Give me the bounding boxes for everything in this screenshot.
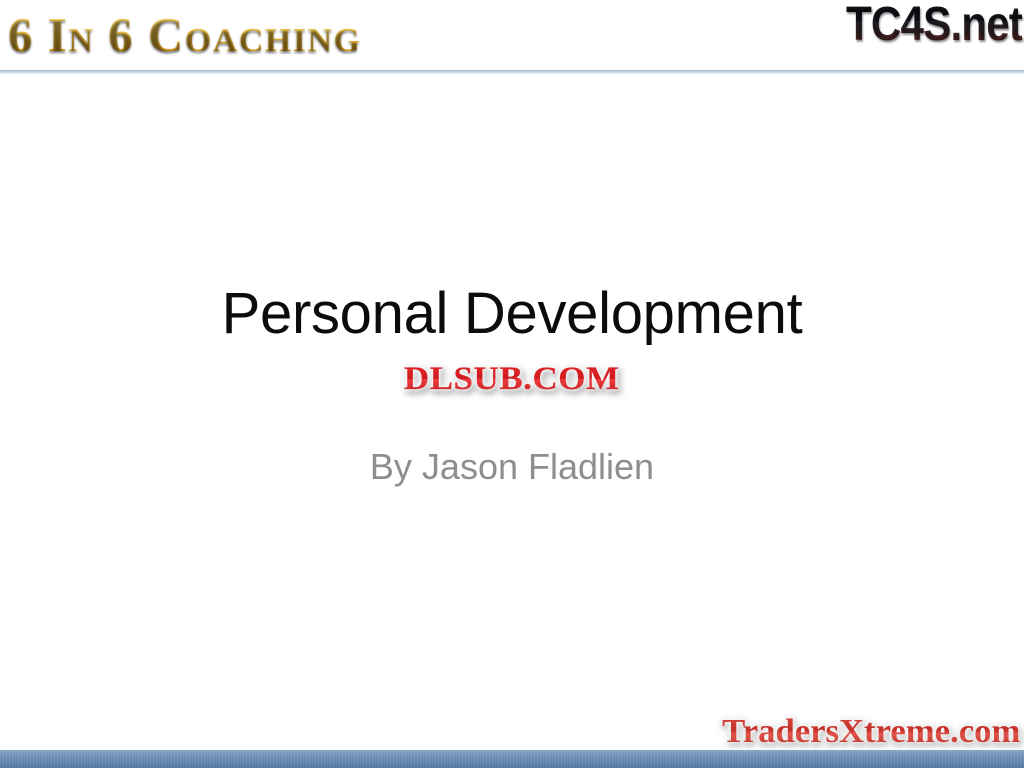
- header-divider: [0, 70, 1024, 74]
- dlsub-watermark-text: DLSUB.COM: [404, 361, 620, 397]
- slide-title: Personal Development: [0, 282, 1024, 346]
- coaching-brand-title: 6 In 6 Coaching: [8, 4, 362, 66]
- dlsub-watermark: DLSUB.COM: [0, 361, 1024, 397]
- tc4s-net-logo: TC4S.net: [846, 0, 1022, 54]
- slide-subtitle-author: By Jason Fladlien: [0, 446, 1024, 488]
- slide-title-block: Personal Development: [0, 282, 1024, 346]
- presentation-slide: 6 In 6 Coaching TC4S.net Personal Develo…: [0, 0, 1024, 768]
- tradersxtreme-watermark: TradersXtreme.com: [722, 712, 1020, 752]
- slide-header-banner: 6 In 6 Coaching TC4S.net: [0, 0, 1024, 70]
- slide-footer-bar: [0, 750, 1024, 768]
- slide-subtitle-block: By Jason Fladlien: [0, 446, 1024, 488]
